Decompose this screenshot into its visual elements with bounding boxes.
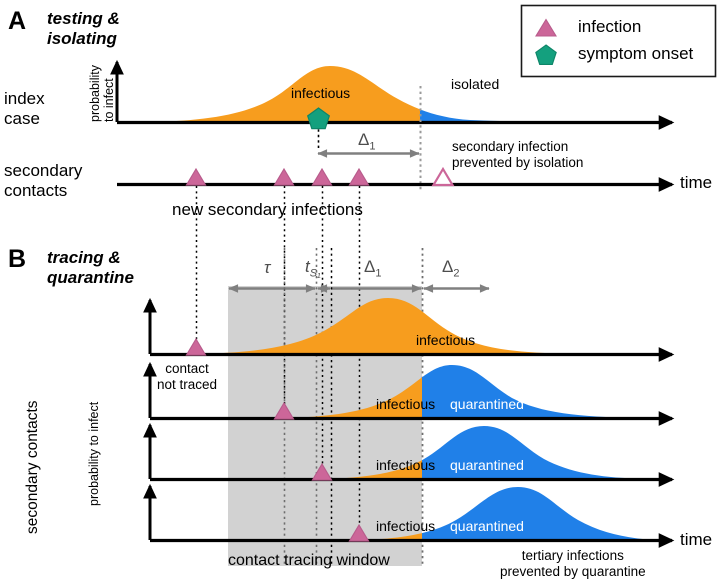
panel-a-title: testing & isolating [47,9,120,48]
interval-label-ts1: tS₁ [305,258,321,280]
triangle-icon [275,169,294,185]
triangle-icon [187,169,206,185]
curve-label-infectious-b1: infectious [416,333,475,348]
interval-label-delta2-b: Δ2 [442,258,459,280]
triangle-icon-open [434,169,453,185]
contact-not-traced-note: contact not traced [157,361,217,392]
curve-label-infectious-b3: infectious [376,458,435,473]
time-axis-label-a: time [680,174,712,192]
curve-label-isolated-a: isolated [451,77,499,92]
new-secondary-infections-note: new secondary infections [172,200,363,220]
curve-label-quarantined-b3: quarantined [450,458,524,473]
interval-label-tau: τ [264,259,270,277]
panel-a-letter: A [8,8,26,35]
curve-label-infectious-a: infectious [291,86,350,101]
panel-b-letter: B [8,246,26,273]
delta1-label-a: Δ1 [358,131,375,153]
row-label-index-case: index case [4,89,45,128]
triangle-icon [350,169,369,185]
legend-label-infection: infection [578,18,641,36]
panel-b-title: tracing & quarantine [47,248,134,287]
curve-label-infectious-b4: infectious [376,519,435,534]
prevented-by-quarantine-note: tertiary infections prevented by quarant… [500,548,646,579]
triangle-icon [313,169,332,185]
infection-markers-secondary [187,169,453,185]
row-label-secondary-contacts: secondary contacts [4,161,82,200]
interval-label-delta1-b: Δ1 [364,258,381,280]
time-axis-label-b: time [680,531,712,549]
curve-label-quarantined-b2: quarantined [450,397,524,412]
prevented-by-isolation-note: secondary infection prevented by isolati… [452,139,583,170]
curve-label-infectious-b2: infectious [376,397,435,412]
contact-tracing-window-label: contact tracing window [228,552,390,569]
group-label-secondary-contacts: secondary contacts [25,400,42,534]
legend-label-symptom-onset: symptom onset [578,45,693,63]
curve-label-quarantined-b4: quarantined [450,519,524,534]
triangle-icon [187,339,206,355]
yaxis-label-panel-b: probability to infect [87,402,101,506]
yaxis-label-index-case: probability to infect [88,65,116,122]
figure-root: A testing & isolating index case seconda… [0,0,727,585]
